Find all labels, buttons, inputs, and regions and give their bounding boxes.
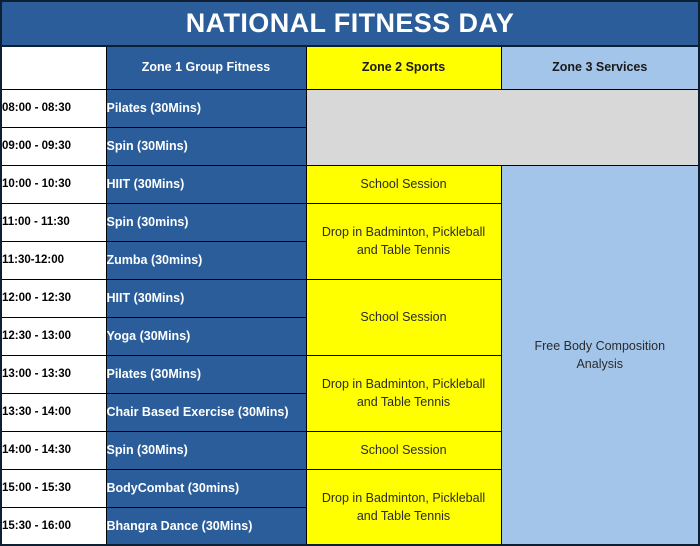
- time-slot-cell: 14:00 - 14:30: [1, 431, 106, 469]
- zone-2-activity-line: School Session: [307, 441, 501, 459]
- time-slot-cell: 11:00 - 11:30: [1, 203, 106, 241]
- zone-2-activity-line: and Table Tennis: [307, 393, 501, 411]
- zone-1-activity-cell: Yoga (30Mins): [106, 317, 306, 355]
- time-slot-cell: 09:00 - 09:30: [1, 127, 106, 165]
- zone-2-activity-cell: School Session: [306, 279, 501, 355]
- zone-1-activity-cell: Bhangra Dance (30Mins): [106, 507, 306, 545]
- table-row: 10:00 - 10:30HIIT (30Mins)School Session…: [1, 165, 699, 203]
- schedule-body: 08:00 - 08:30Pilates (30Mins)09:00 - 09:…: [1, 89, 699, 545]
- zone-2-activity-line: School Session: [307, 175, 501, 193]
- time-slot-cell: 13:00 - 13:30: [1, 355, 106, 393]
- zone-2-activity-line: Drop in Badminton, Pickleball: [307, 223, 501, 241]
- zone-2-activity-line: and Table Tennis: [307, 507, 501, 525]
- unavailable-block-cell: [306, 89, 699, 165]
- zone-1-activity-cell: Pilates (30Mins): [106, 355, 306, 393]
- header-time-column: [1, 46, 106, 89]
- zone-1-activity-cell: Spin (30Mins): [106, 431, 306, 469]
- time-slot-cell: 11:30-12:00: [1, 241, 106, 279]
- time-slot-cell: 12:00 - 12:30: [1, 279, 106, 317]
- header-zone-3: Zone 3 Services: [501, 46, 699, 89]
- time-slot-cell: 10:00 - 10:30: [1, 165, 106, 203]
- time-slot-cell: 15:30 - 16:00: [1, 507, 106, 545]
- zone-1-activity-cell: Spin (30Mins): [106, 127, 306, 165]
- zone-1-activity-cell: Pilates (30Mins): [106, 89, 306, 127]
- time-slot-cell: 08:00 - 08:30: [1, 89, 106, 127]
- table-row: 08:00 - 08:30Pilates (30Mins): [1, 89, 699, 127]
- zone-2-activity-cell: Drop in Badminton, Pickleballand Table T…: [306, 355, 501, 431]
- zone-2-activity-line: Drop in Badminton, Pickleball: [307, 375, 501, 393]
- fitness-timetable-poster: NATIONAL FITNESS DAY Zone 1 Group Fitnes…: [0, 0, 700, 541]
- time-slot-cell: 13:30 - 14:00: [1, 393, 106, 431]
- zone-1-activity-cell: BodyCombat (30mins): [106, 469, 306, 507]
- header-zone-1: Zone 1 Group Fitness: [106, 46, 306, 89]
- zone-2-activity-cell: Drop in Badminton, Pickleballand Table T…: [306, 469, 501, 545]
- zone-3-service-line: Free Body Composition: [502, 337, 699, 355]
- time-slot-cell: 15:00 - 15:30: [1, 469, 106, 507]
- zone-1-activity-cell: Zumba (30mins): [106, 241, 306, 279]
- zone-1-activity-cell: Spin (30mins): [106, 203, 306, 241]
- zone-2-activity-cell: Drop in Badminton, Pickleballand Table T…: [306, 203, 501, 279]
- zone-2-activity-line: Drop in Badminton, Pickleball: [307, 489, 501, 507]
- zone-1-activity-cell: Chair Based Exercise (30Mins): [106, 393, 306, 431]
- poster-title-bar: NATIONAL FITNESS DAY: [0, 0, 700, 45]
- zone-3-service-cell: Free Body CompositionAnalysis: [501, 165, 699, 545]
- zone-2-activity-cell: School Session: [306, 165, 501, 203]
- zone-3-service-line: Analysis: [502, 355, 699, 373]
- header-zone-2: Zone 2 Sports: [306, 46, 501, 89]
- table-header-row: Zone 1 Group Fitness Zone 2 Sports Zone …: [1, 46, 699, 89]
- time-slot-cell: 12:30 - 13:00: [1, 317, 106, 355]
- zone-2-activity-line: School Session: [307, 308, 501, 326]
- page-title: NATIONAL FITNESS DAY: [186, 10, 515, 37]
- zone-1-activity-cell: HIIT (30Mins): [106, 279, 306, 317]
- zone-1-activity-cell: HIIT (30Mins): [106, 165, 306, 203]
- schedule-table: Zone 1 Group Fitness Zone 2 Sports Zone …: [0, 45, 700, 546]
- zone-2-activity-line: and Table Tennis: [307, 241, 501, 259]
- zone-2-activity-cell: School Session: [306, 431, 501, 469]
